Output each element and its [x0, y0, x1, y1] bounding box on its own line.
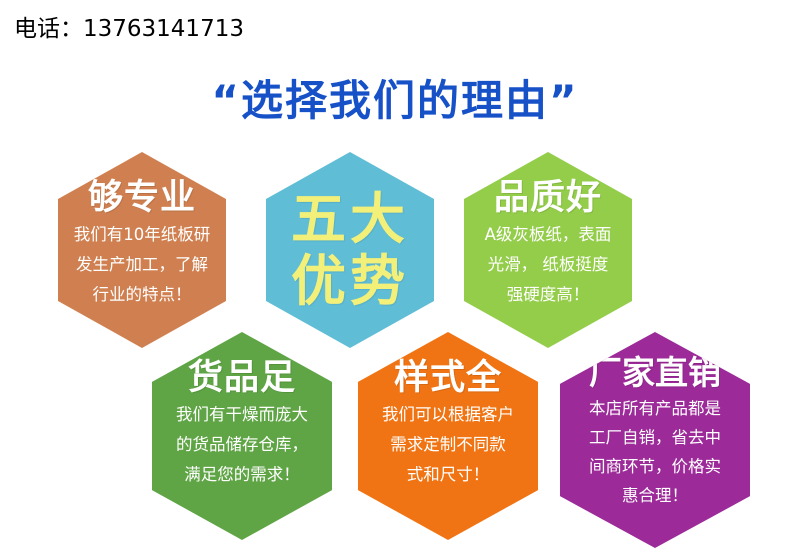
hexagon-professional-body: 我们有10年纸板研 发生产加工，了解 行业的特点！: [74, 220, 211, 310]
hexagon-factory-direct-title: 厂家直销: [589, 354, 721, 392]
hexagon-style-body: 我们可以根据客户 需求定制不同款 式和尺寸！: [382, 400, 514, 490]
hexagon-professional-title: 够专业: [88, 178, 196, 218]
promo-banner: 电话：13763141713 “选择我们的理由” 够专业 我们有10年纸板研 发…: [0, 0, 790, 549]
hexagon-five-advantages-title: 五大 优势: [291, 188, 409, 312]
hexagon-quality-body: A级灰板纸，表面 光滑， 纸板挺度 强硬度高！: [485, 220, 612, 310]
hexagon-grid: 够专业 我们有10年纸板研 发生产加工，了解 行业的特点！ 品质好 A级灰板纸，…: [0, 0, 790, 549]
hexagon-professional: 够专业 我们有10年纸板研 发生产加工，了解 行业的特点！: [58, 152, 226, 348]
hexagon-stock: 货品足 我们有干燥而庞大 的货品储存仓库， 满足您的需求！: [152, 332, 332, 540]
hexagon-factory-direct-body: 本店所有产品都是 工厂自销，省去中 间商环节，价格实 惠合理！: [589, 394, 721, 510]
hexagon-style: 样式全 我们可以根据客户 需求定制不同款 式和尺寸！: [358, 332, 538, 540]
hexagon-stock-title: 货品足: [188, 358, 296, 398]
hexagon-stock-body: 我们有干燥而庞大 的货品储存仓库， 满足您的需求！: [176, 400, 308, 490]
hexagon-quality-title: 品质好: [494, 178, 602, 218]
hexagon-style-title: 样式全: [394, 358, 502, 398]
hexagon-factory-direct: 厂家直销 本店所有产品都是 工厂自销，省去中 间商环节，价格实 惠合理！: [560, 332, 750, 548]
hexagon-five-advantages: 五大 优势: [266, 152, 434, 348]
hexagon-quality: 品质好 A级灰板纸，表面 光滑， 纸板挺度 强硬度高！: [464, 152, 632, 348]
